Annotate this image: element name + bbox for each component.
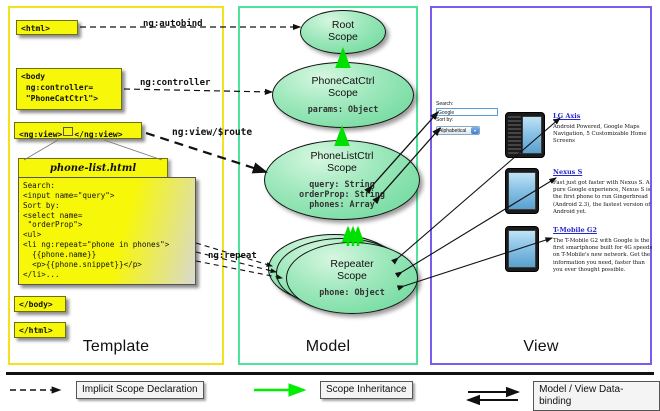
phone-keyboard-icon [508, 116, 521, 154]
code-tag-body: <body ng:controller= "PhoneCatCtrl"> [16, 68, 122, 110]
phone-snippet: The T-Mobile G2 with Google is the first… [553, 238, 653, 274]
connector-label-ngrepeat: ng:repeat [208, 251, 257, 261]
phone-text: LG Axis Android Powered, Google Maps Nav… [553, 112, 653, 146]
sort-row: Alphabetical ▾ [436, 126, 502, 135]
phone-list-note-title: phone-list.html [18, 158, 168, 178]
phone-image [505, 112, 545, 158]
scope-phonelistctrl: PhoneListCtrl Scope query: String orderP… [264, 140, 420, 220]
diagram-canvas: <html> <body ng:controller= "PhoneCatCtr… [0, 0, 660, 405]
phone-text: T-Mobile G2 The T-Mobile G2 with Google … [553, 226, 653, 274]
chevron-down-icon: ▾ [471, 127, 479, 134]
panel-label-view: View [430, 338, 652, 356]
connector-label-autobind: ng:autobind [143, 19, 203, 29]
scope-repeater: Repeater Scope phone: Object [286, 242, 418, 314]
code-tag-ngview: <ng:view></ng:view> [14, 122, 142, 139]
phone-image [505, 226, 539, 272]
sort-label: Sort by: [436, 117, 502, 124]
phone-name-link[interactable]: T-Mobile G2 [553, 226, 653, 235]
scope-phonelistctrl-props: query: String orderProp: String phones: … [299, 179, 385, 209]
connector-label-ngview-route: ng:view/$route [172, 127, 252, 138]
scope-phonecatctrl-name: PhoneCatCtrl Scope [311, 76, 374, 100]
sort-select-value: Alphabetical [439, 127, 466, 135]
legend-item-scope-inheritance: Scope Inheritance [252, 381, 413, 399]
connector-label-controller: ng:controller [140, 78, 210, 88]
scope-repeater-props: phone: Object [319, 287, 385, 297]
scope-root-name: Root Scope [328, 20, 358, 44]
phone-list-note-code: Search: <input name="query"> Sort by: <s… [18, 177, 196, 285]
code-tag-html-close: </html> [14, 322, 66, 338]
phone-name-link[interactable]: LG Axis [553, 112, 653, 121]
code-tag-html: <html> [16, 20, 78, 35]
phone-list-note: phone-list.html Search: <input name="que… [18, 158, 196, 286]
phone-text: Nexus S Fast just got faster with Nexus … [553, 168, 653, 216]
ngview-open-tag: <ng:view> [19, 130, 62, 139]
panel-label-model: Model [238, 338, 418, 356]
phone-name-link[interactable]: Nexus S [553, 168, 653, 177]
phone-snippet: Fast just got faster with Nexus S. A pur… [553, 180, 653, 216]
green-arrow-icon [252, 381, 314, 399]
ngview-close-tag: </ng:view> [74, 130, 122, 139]
legend-item-data-binding: Model / View Data-binding [466, 381, 660, 411]
scope-repeater-name: Repeater Scope [330, 259, 373, 283]
double-arrow-icon [466, 387, 527, 405]
search-input[interactable]: Google [436, 108, 498, 116]
phone-screen [508, 230, 536, 268]
search-label: Search: [436, 101, 502, 108]
phone-snippet: Android Powered, Google Maps Navigation,… [553, 124, 653, 146]
scope-root: Root Scope [300, 10, 386, 54]
view-search-form: Search: Google Sort by: Alphabetical ▾ [436, 101, 502, 135]
legend-divider [6, 372, 654, 375]
code-tag-body-close: </body> [14, 296, 66, 312]
scope-phonecatctrl-props: params: Object [308, 104, 379, 114]
legend-label: Model / View Data-binding [533, 381, 660, 411]
legend: Implicit Scope Declaration Scope Inherit… [0, 372, 660, 405]
legend-item-implicit-scope: Implicit Scope Declaration [8, 381, 204, 399]
panel-label-template: Template [8, 338, 224, 356]
scope-phonelistctrl-name: PhoneListCtrl Scope [310, 151, 373, 175]
legend-label: Scope Inheritance [320, 381, 413, 399]
scope-phonecatctrl: PhoneCatCtrl Scope params: Object [272, 62, 414, 128]
phone-image [505, 168, 539, 214]
legend-label: Implicit Scope Declaration [76, 381, 204, 399]
phone-screen [508, 172, 536, 210]
dashed-arrow-icon [8, 381, 70, 399]
phone-screen [522, 116, 542, 154]
ngview-slot-icon [63, 127, 73, 136]
sort-select[interactable]: Alphabetical ▾ [436, 126, 480, 135]
